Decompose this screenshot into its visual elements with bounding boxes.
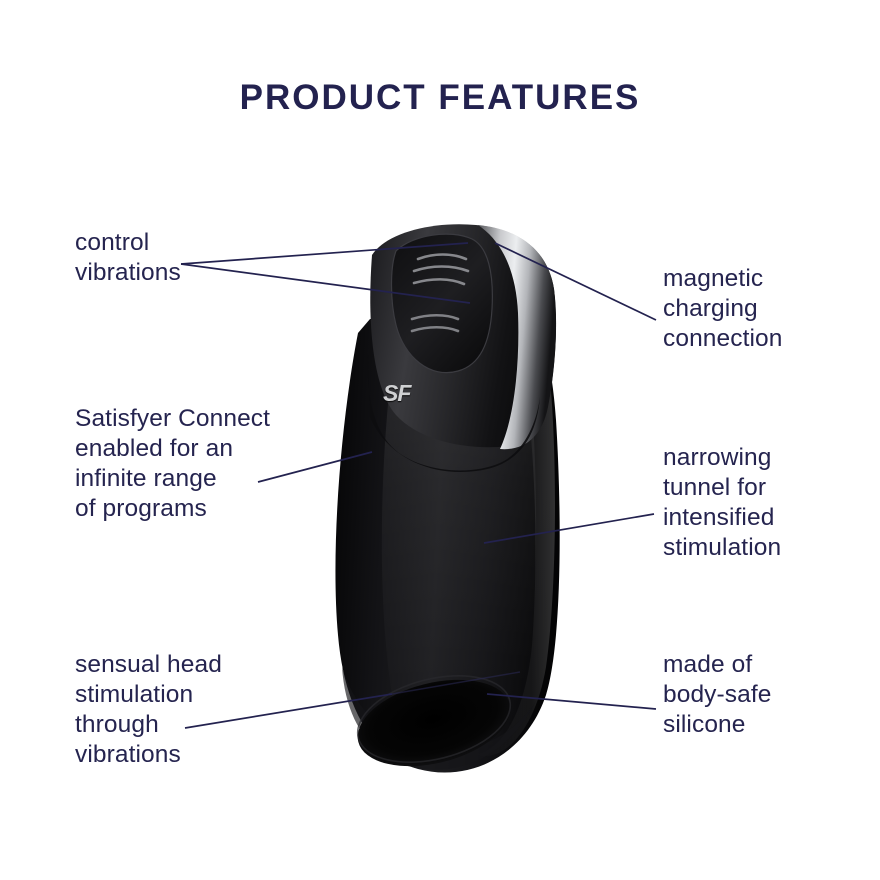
- callout-made-of-body-safe-silicone: made of body-safe silicone: [663, 650, 772, 740]
- product-image: [300, 215, 600, 785]
- callout-narrowing-tunnel: narrowing tunnel for intensified stimula…: [663, 443, 781, 563]
- callout-sensual-head-stimulation: sensual head stimulation through vibrati…: [75, 650, 222, 770]
- callout-magnetic-charging-connection: magnetic charging connection: [663, 264, 783, 354]
- callout-satisfyer-connect: Satisfyer Connect enabled for an infinit…: [75, 404, 270, 524]
- callout-control-vibrations: control vibrations: [75, 228, 181, 288]
- product-features-infographic: PRODUCT FEATURES: [0, 0, 880, 880]
- page-title: PRODUCT FEATURES: [0, 78, 880, 118]
- satisfyer-brand-mark: SF: [383, 378, 429, 408]
